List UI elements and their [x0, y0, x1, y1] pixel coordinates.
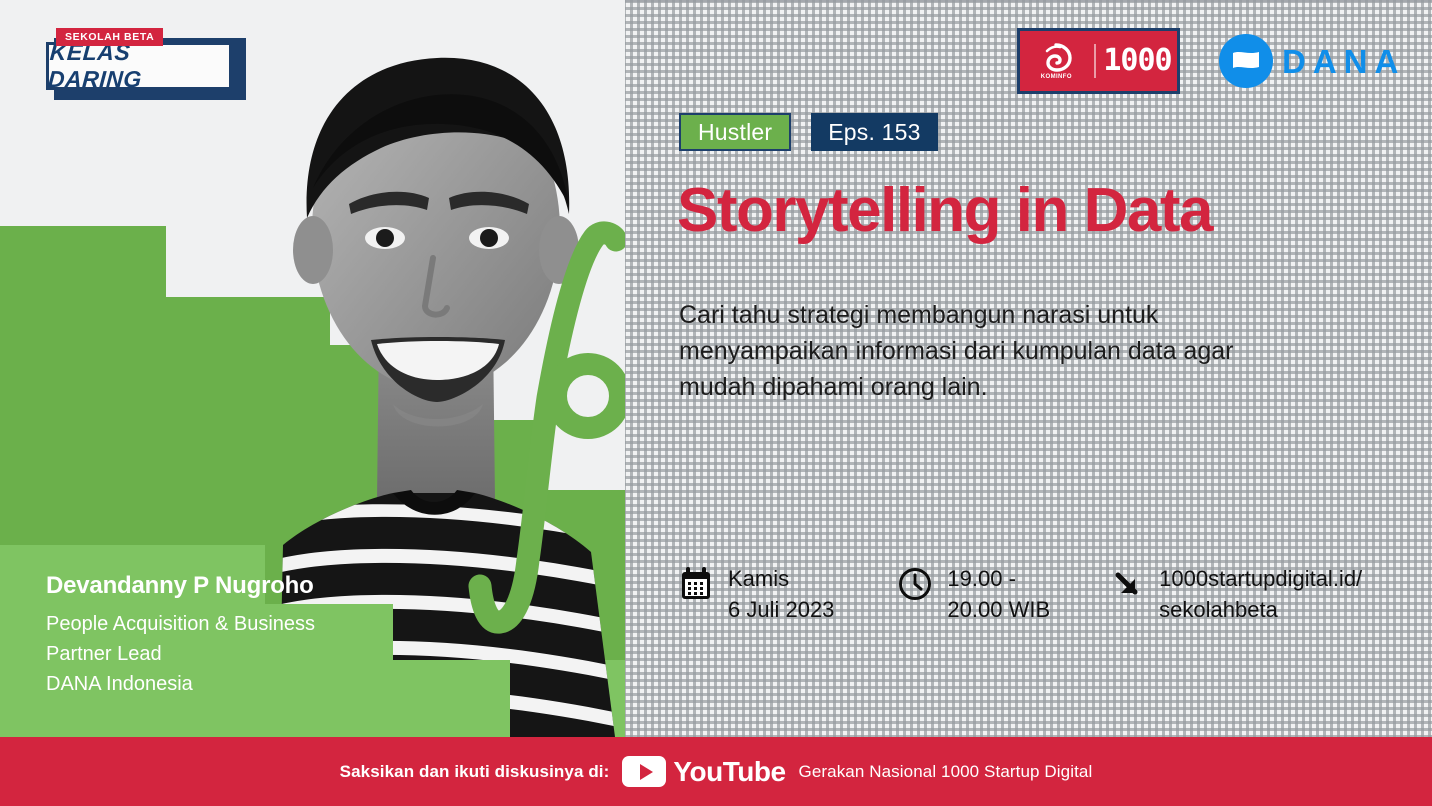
calendar-icon [677, 565, 715, 603]
info-time: 19.00 - 20.00 WIB [896, 563, 1050, 625]
right-content-panel: KOMINFO 1000 DANA Hustler Eps. 153 Story… [625, 0, 1432, 737]
kelas-daring-logo: KELAS DARING SEKOLAH BETA [46, 28, 242, 94]
session-badges: Hustler Eps. 153 [679, 113, 938, 151]
youtube-play-triangle [640, 764, 653, 780]
session-title: Storytelling in Data [677, 176, 1212, 246]
session-info-row: Kamis 6 Juli 2023 19.00 - 20.00 WIB [677, 563, 1362, 625]
kominfo-divider [1094, 44, 1096, 78]
kominfo-1000-number: 1000 [1103, 46, 1171, 76]
partner-logos: KOMINFO 1000 DANA [1017, 28, 1405, 94]
youtube-play-button [622, 756, 666, 787]
dana-flag-icon [1216, 31, 1276, 91]
speaker-company: DANA Indonesia [46, 669, 406, 699]
speaker-info-block: Devandanny P Nugroho People Acquisition … [46, 571, 406, 699]
brand-tag-label: SEKOLAH BETA [56, 28, 163, 46]
info-link-line-2: sekolahbeta [1159, 597, 1278, 622]
info-date: Kamis 6 Juli 2023 [677, 563, 834, 625]
arrow-down-right-icon [1108, 565, 1146, 603]
brand-badge-body: KELAS DARING [46, 42, 232, 90]
speaker-role-line-1: People Acquisition & Business [46, 609, 406, 639]
poster-canvas: KELAS DARING SEKOLAH BETA Devandanny P N… [0, 0, 1432, 806]
speaker-role-line-2: Partner Lead [46, 639, 406, 669]
footer-channel-name: Gerakan Nasional 1000 Startup Digital [799, 762, 1093, 782]
info-time-line-2: 20.00 WIB [947, 597, 1050, 622]
kominfo-mark: KOMINFO [1025, 43, 1087, 80]
info-link-line-1: 1000startupdigital.id/ [1159, 566, 1362, 591]
info-date-text: Kamis 6 Juli 2023 [728, 563, 834, 625]
brand-name-text: KELAS DARING [47, 39, 231, 93]
info-link-text[interactable]: 1000startupdigital.id/ sekolahbeta [1159, 563, 1362, 625]
left-artwork-panel: KELAS DARING SEKOLAH BETA Devandanny P N… [0, 0, 625, 737]
dana-logo: DANA [1216, 31, 1405, 91]
footer-banner: Saksikan dan ikuti diskusinya di: YouTub… [0, 737, 1432, 806]
info-link[interactable]: 1000startupdigital.id/ sekolahbeta [1108, 563, 1362, 625]
kominfo-caption: KOMINFO [1041, 74, 1072, 80]
youtube-icon[interactable]: YouTube [622, 756, 785, 787]
session-description: Cari tahu strategi membangun narasi untu… [679, 297, 1299, 405]
dana-wordmark: DANA [1282, 45, 1405, 78]
speaker-name: Devandanny P Nugroho [46, 571, 406, 601]
badge-episode: Eps. 153 [811, 113, 937, 151]
info-time-line-1: 19.00 - [947, 566, 1016, 591]
badge-track: Hustler [679, 113, 791, 151]
footer-prefix: Saksikan dan ikuti diskusinya di: [340, 762, 610, 782]
info-time-text: 19.00 - 20.00 WIB [947, 563, 1050, 625]
clock-icon [896, 565, 934, 603]
info-date-line-1: Kamis [728, 566, 789, 591]
info-date-line-2: 6 Juli 2023 [728, 597, 834, 622]
kominfo-shell-icon [1039, 43, 1073, 73]
youtube-wordmark: YouTube [673, 758, 785, 786]
kominfo-1000-logo: KOMINFO 1000 [1017, 28, 1180, 94]
